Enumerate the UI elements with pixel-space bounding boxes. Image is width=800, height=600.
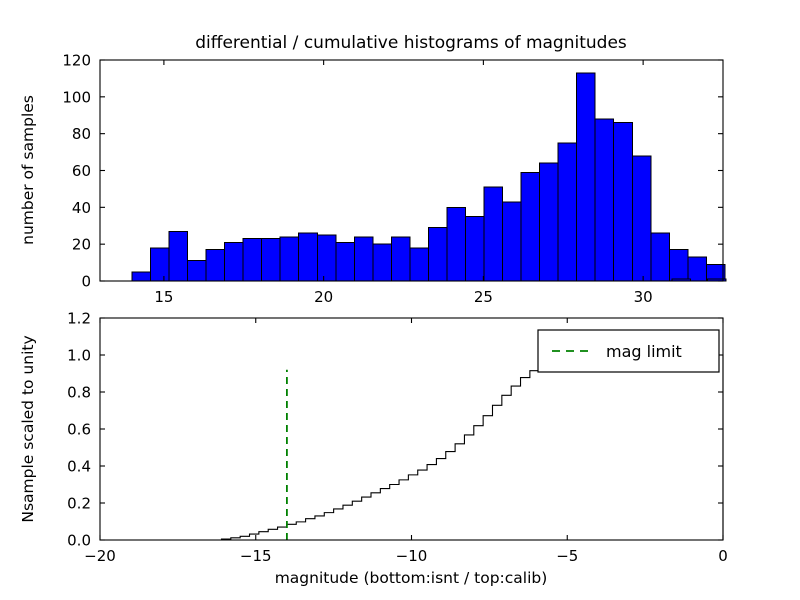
histogram-bar	[447, 207, 466, 281]
top-y-tick-label: 60	[72, 162, 91, 180]
histogram-bar	[391, 237, 410, 281]
histogram-bar	[132, 272, 151, 281]
histogram-bar	[373, 244, 392, 281]
bottom-y-tick-label: 0.6	[67, 421, 91, 439]
histogram-bar	[299, 233, 318, 281]
histogram-bar	[243, 239, 262, 281]
histogram-bar	[206, 250, 225, 281]
bottom-panel: 0.00.20.40.60.81.01.2 −20−15−10−50 Nsamp…	[19, 310, 728, 588]
bottom-y-tick-label: 0.4	[67, 458, 91, 476]
top-panel: 020406080100120 15202530 differential / …	[19, 33, 726, 306]
matplotlib-figure: 020406080100120 15202530 differential / …	[0, 0, 800, 600]
histogram-bar	[465, 217, 484, 281]
histogram-bar	[706, 264, 725, 281]
histogram-bar	[651, 233, 670, 281]
bottom-y-tick-label: 0.2	[67, 495, 91, 513]
histogram-bar	[225, 242, 244, 281]
bottom-y-tick-label: 0.8	[67, 384, 91, 402]
top-y-tick-label: 20	[72, 236, 91, 254]
top-y-axis-label: number of samples	[19, 95, 37, 245]
top-y-tick-label: 100	[62, 88, 91, 106]
top-y-tick-label: 0	[81, 273, 91, 291]
histogram-bar	[669, 250, 688, 281]
histogram-bar	[336, 242, 355, 281]
histogram-bar	[410, 248, 429, 281]
histogram-bar	[540, 163, 559, 281]
bottom-x-axis-label: magnitude (bottom:isnt / top:calib)	[275, 569, 548, 587]
histogram-bar	[188, 261, 207, 281]
histogram-bar	[150, 248, 169, 281]
histogram-bar	[558, 143, 577, 281]
top-x-tick-label: 30	[634, 288, 653, 306]
histogram-bar	[503, 202, 522, 281]
chart-title: differential / cumulative histograms of …	[195, 33, 627, 53]
histogram-bar	[354, 237, 373, 281]
top-y-tick-label: 40	[72, 199, 91, 217]
top-x-tick-label: 20	[314, 288, 333, 306]
bottom-y-axis-label: Nsample scaled to unity	[19, 335, 37, 522]
figure-canvas: 020406080100120 15202530 differential / …	[0, 0, 800, 600]
bottom-y-tick-label: 1.0	[67, 347, 91, 365]
bottom-x-tick-label: −15	[240, 547, 272, 565]
bottom-y-tick-label: 1.2	[67, 310, 91, 328]
histogram-bar	[317, 235, 336, 281]
top-x-tick-label: 15	[154, 288, 173, 306]
bottom-x-tick-label: −20	[84, 547, 116, 565]
histogram-bar	[688, 257, 707, 281]
top-x-tick-label: 25	[474, 288, 493, 306]
histogram-bar	[280, 237, 299, 281]
legend-label-mag-limit: mag limit	[606, 342, 682, 361]
histogram-bar	[484, 187, 503, 281]
bottom-x-tick-label: −5	[556, 547, 578, 565]
bottom-x-tick-label: 0	[718, 547, 728, 565]
histogram-bar	[169, 231, 188, 281]
bottom-x-tick-label: −10	[396, 547, 428, 565]
histogram-bar	[428, 228, 447, 281]
legend[interactable]: mag limit	[538, 330, 719, 372]
histogram-bar	[632, 156, 651, 281]
top-y-tick-label: 80	[72, 125, 91, 143]
top-y-tick-label: 120	[62, 52, 91, 70]
histogram-bar	[614, 123, 633, 281]
histogram-bar	[521, 172, 540, 281]
histogram-bar	[262, 239, 281, 281]
histogram-bar	[595, 119, 614, 281]
histogram-bar	[577, 73, 596, 281]
